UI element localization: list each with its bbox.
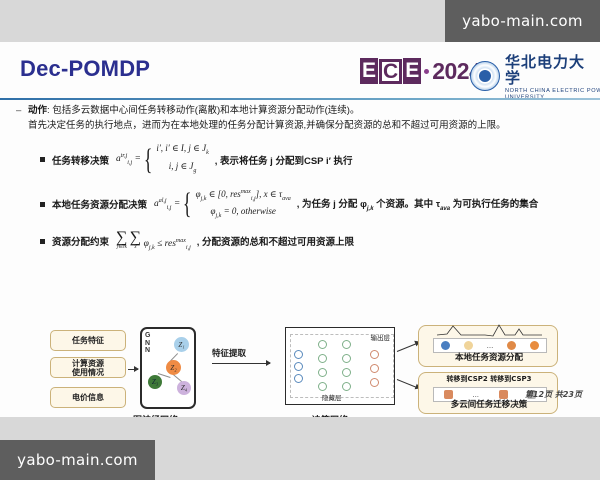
lead-line: 动作: 包括多云数据中心间任务转移动作(离散)和本地计算资源分配动作(连续)。: [28, 104, 359, 118]
square-bullet-icon: [40, 157, 45, 162]
sparkline-icon: [437, 324, 542, 337]
bullet-local-alloc-decision: 本地任务资源分配决策 aal,ji,j = { φj,k ∈ [0, resma…: [40, 186, 591, 224]
university-names: 华北电力大学 NORTH CHINA ELECTRIC POWER UNIVER…: [505, 55, 600, 96]
nn-input-node: [294, 350, 303, 359]
gnn-node-z1: Z₁: [174, 337, 189, 352]
b2-case-2: φj,k = 0, otherwise: [196, 205, 291, 223]
feature-box-price: 电价信息: [50, 387, 126, 408]
title-divider: [0, 98, 600, 100]
brace-icon: {: [183, 189, 192, 219]
bullet-2-tail: , 为任务 j 分配 φj,k 个资源。其中 τava 为可执行任务的集合: [297, 196, 539, 212]
nn-output-node: [370, 378, 379, 387]
arrow-to-output-2: [397, 379, 420, 389]
nn-input-node: [294, 374, 303, 383]
gnn-caption: 图神经网络: [133, 413, 178, 417]
bullet-1-variable: atr,ji,j =: [116, 153, 141, 166]
b1-var-sub: i,j: [127, 160, 132, 166]
university-name-cn: 华北电力大学: [505, 55, 600, 87]
nn-hidden-node: [342, 354, 351, 363]
bullet-3-formula: ∑j∈Jk ∑x φj,k ≤ resmaxi,j: [116, 231, 191, 251]
feature-extraction-label: 特征提取: [212, 347, 246, 359]
watermark-top-text: yabo-main.com: [462, 12, 583, 30]
bullet-2-cases: { φj,k ∈ [0, resmaxi,j], x ∈ τava φj,k =…: [180, 186, 290, 224]
lead-label: 动作: [28, 105, 47, 116]
dash-marker: –: [16, 104, 28, 118]
ece-letter-e1: E: [360, 58, 378, 84]
nn-hidden-node: [318, 340, 327, 349]
ece-letter-c: C: [379, 59, 402, 84]
gnn-node-z3: Z₃: [148, 375, 162, 389]
feature-box-task: 任务特征: [50, 330, 126, 351]
sub-paragraph: 首先决定任务的执行地点，进而为在本地处理的任务分配计算资源,并确保分配资源的总和…: [28, 118, 591, 134]
chip-ellipsis: ...: [487, 341, 494, 350]
nn-output-node: [370, 364, 379, 373]
page-title: Dec-POMDP: [20, 56, 150, 82]
chip-3: [507, 341, 516, 350]
b1-case-1: i′, i′ ∈ I, j ∈ Jk: [156, 142, 208, 160]
ece-2024-logo: E C E 2024: [360, 56, 481, 86]
page-number: 第12页 共23页: [525, 389, 582, 400]
nn-input-node: [294, 362, 303, 371]
feature-box-compute: 计算资源 使用情况: [50, 357, 126, 378]
output-card-local-alloc: ... 本地任务资源分配: [418, 325, 558, 367]
b1-case-2: i, j ∈ Jg: [156, 160, 208, 178]
nn-hidden-node: [318, 382, 327, 391]
bullet-resource-constraint: 资源分配约束 ∑j∈Jk ∑x φj,k ≤ resmaxi,j , 分配资源的…: [40, 231, 591, 251]
chip-1: [441, 341, 450, 350]
nn-hidden-node: [342, 382, 351, 391]
slide-header: Dec-POMDP E C E 2024 华北电力大学 NORTH CHINA …: [0, 42, 600, 100]
chip-4: [530, 341, 539, 350]
output-layer-label: 输出层: [371, 332, 391, 342]
square-bullet-icon: [40, 239, 45, 244]
bullet-2-label: 本地任务资源分配决策: [52, 197, 147, 211]
chip-2: [464, 341, 473, 350]
nn-hidden-node: [342, 340, 351, 349]
gnn-node-z2: Z₂: [166, 360, 181, 375]
lead-text: : 包括多云数据中心间任务转移动作(离散)和本地计算资源分配动作(连续)。: [47, 105, 359, 116]
bullet-transfer-decision: 任务转移决策 atr,ji,j = { i′, i′ ∈ I, j ∈ Jk i…: [40, 142, 591, 178]
gnn-acronym: G N N: [145, 332, 150, 355]
arrow-to-output-1: [397, 342, 420, 352]
ece-dot-icon: [424, 69, 429, 74]
nn-output-node: [370, 350, 379, 359]
output-card-1-caption: 本地任务资源分配: [419, 351, 559, 363]
arrow-features-to-gnn: [128, 369, 138, 370]
b2-case-1: φj,k ∈ [0, resmaxi,j], x ∈ τava: [196, 186, 291, 206]
bullet-1-cases: { i′, i′ ∈ I, j ∈ Jk i, j ∈ Jg: [141, 142, 209, 178]
university-seal-icon: [470, 61, 500, 91]
gnn-card: G N N Z₁ Z₂ Z₃ Z₄: [140, 327, 196, 409]
square-bullet-icon: [40, 202, 45, 207]
decision-network-box: 输出层 隐藏层: [285, 327, 395, 405]
bullet-2-variable: aal,ji,j =: [154, 198, 180, 211]
bullet-3-label: 资源分配约束: [52, 234, 109, 248]
arrow-gnn-to-decision: [212, 363, 270, 364]
bullet-1-label: 任务转移决策: [52, 153, 109, 167]
sum-symbol-1: ∑j∈Jk: [116, 233, 127, 253]
slide-canvas: Dec-POMDP E C E 2024 华北电力大学 NORTH CHINA …: [0, 42, 600, 417]
nn-hidden-node: [318, 368, 327, 377]
bullet-3-tail: , 分配资源的总和不超过可用资源上限: [197, 234, 354, 248]
decision-network-caption: 决策网络: [312, 413, 348, 417]
nn-hidden-node: [318, 354, 327, 363]
output-card-2-top-label: 转移到CSP2 转移到CSP3: [419, 374, 559, 384]
hidden-layer-label: 隐藏层: [322, 392, 342, 402]
slide-body: – 动作: 包括多云数据中心间任务转移动作(离散)和本地计算资源分配动作(连续)…: [16, 104, 591, 251]
sum-symbol-2: ∑x: [130, 233, 141, 253]
watermark-bottom-text: yabo-main.com: [17, 451, 138, 469]
gnn-node-z4: Z₄: [177, 381, 191, 395]
nn-hidden-node: [342, 368, 351, 377]
brace-icon: {: [144, 145, 153, 175]
bullet-1-tail: , 表示将任务 j 分配到CSP i′ 执行: [215, 153, 353, 167]
watermark-top: yabo-main.com: [445, 0, 600, 42]
watermark-bottom: yabo-main.com: [0, 440, 155, 480]
university-logo: 华北电力大学 NORTH CHINA ELECTRIC POWER UNIVER…: [470, 55, 600, 96]
ece-letter-e2: E: [403, 58, 421, 84]
architecture-diagram: 任务特征 计算资源 使用情况 电价信息 G N N Z₁ Z₂ Z₃ Z₄ 图神…: [40, 325, 560, 417]
b1-var-sup: tr,j: [121, 153, 128, 159]
lead-paragraph: – 动作: 包括多云数据中心间任务转移动作(离散)和本地计算资源分配动作(连续)…: [16, 104, 591, 118]
